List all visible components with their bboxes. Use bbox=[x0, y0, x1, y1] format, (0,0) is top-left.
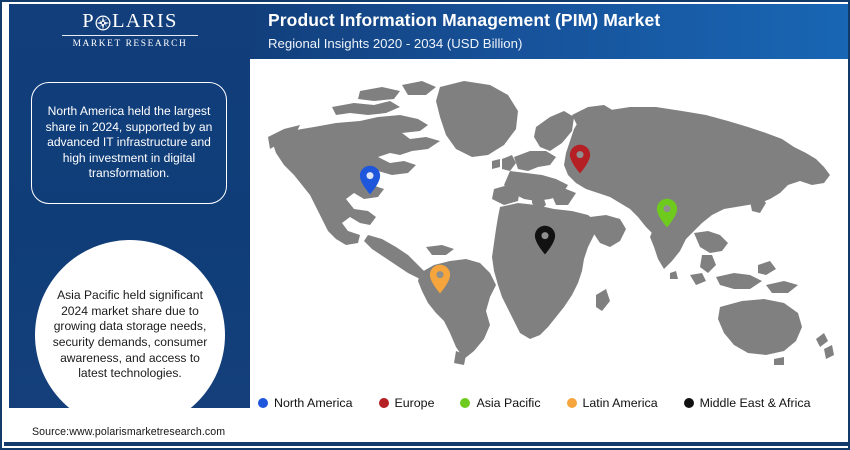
infographic-root: P LARIS MARKET RESEARCH Product Informat… bbox=[0, 0, 850, 450]
page-title: Product Information Management (PIM) Mar… bbox=[268, 10, 850, 30]
north-america-callout-text: North America held the largest share in … bbox=[41, 104, 217, 182]
map-legend: North America Europe Asia Pacific Latin … bbox=[258, 392, 850, 414]
legend-dot-icon bbox=[379, 398, 389, 408]
map-pin-middle-east-africa[interactable] bbox=[534, 225, 556, 255]
header-bar: Product Information Management (PIM) Mar… bbox=[250, 4, 850, 59]
world-map bbox=[250, 59, 850, 393]
legend-item-north-america[interactable]: North America bbox=[258, 396, 353, 410]
legend-label: Europe bbox=[395, 396, 435, 410]
logo-tagline: MARKET RESEARCH bbox=[60, 38, 200, 50]
legend-label: Latin America bbox=[583, 396, 658, 410]
left-panel-white-edge bbox=[4, 4, 9, 408]
polaris-logo: P LARIS MARKET RESEARCH bbox=[60, 10, 200, 50]
page-subtitle: Regional Insights 2020 - 2034 (USD Billi… bbox=[268, 35, 850, 53]
logo-word-part-2: LARIS bbox=[112, 10, 178, 33]
asia-pacific-callout: Asia Pacific held significant 2024 marke… bbox=[35, 240, 225, 430]
logo-divider bbox=[62, 35, 198, 36]
map-pin-north-america[interactable] bbox=[359, 165, 381, 195]
north-america-callout: North America held the largest share in … bbox=[31, 82, 227, 204]
bottom-divider bbox=[4, 442, 850, 446]
logo-word-part-1: P bbox=[82, 10, 95, 33]
map-pin-asia-pacific[interactable] bbox=[656, 198, 678, 228]
legend-item-europe[interactable]: Europe bbox=[379, 396, 435, 410]
legend-dot-icon bbox=[567, 398, 577, 408]
map-pin-latin-america[interactable] bbox=[429, 264, 451, 294]
legend-label: Middle East & Africa bbox=[700, 396, 811, 410]
legend-label: North America bbox=[274, 396, 353, 410]
legend-dot-icon bbox=[460, 398, 470, 408]
map-pin-europe[interactable] bbox=[569, 144, 591, 174]
compass-star-icon bbox=[95, 15, 111, 31]
legend-dot-icon bbox=[258, 398, 268, 408]
legend-item-asia-pacific[interactable]: Asia Pacific bbox=[460, 396, 540, 410]
legend-dot-icon bbox=[684, 398, 694, 408]
legend-label: Asia Pacific bbox=[476, 396, 540, 410]
source-footer: Source:www.polarismarketresearch.com bbox=[32, 426, 225, 438]
logo-wordmark: P LARIS bbox=[60, 10, 200, 33]
legend-item-latin-america[interactable]: Latin America bbox=[567, 396, 658, 410]
asia-pacific-callout-text: Asia Pacific held significant 2024 marke… bbox=[47, 288, 213, 382]
legend-item-middle-east-africa[interactable]: Middle East & Africa bbox=[684, 396, 811, 410]
